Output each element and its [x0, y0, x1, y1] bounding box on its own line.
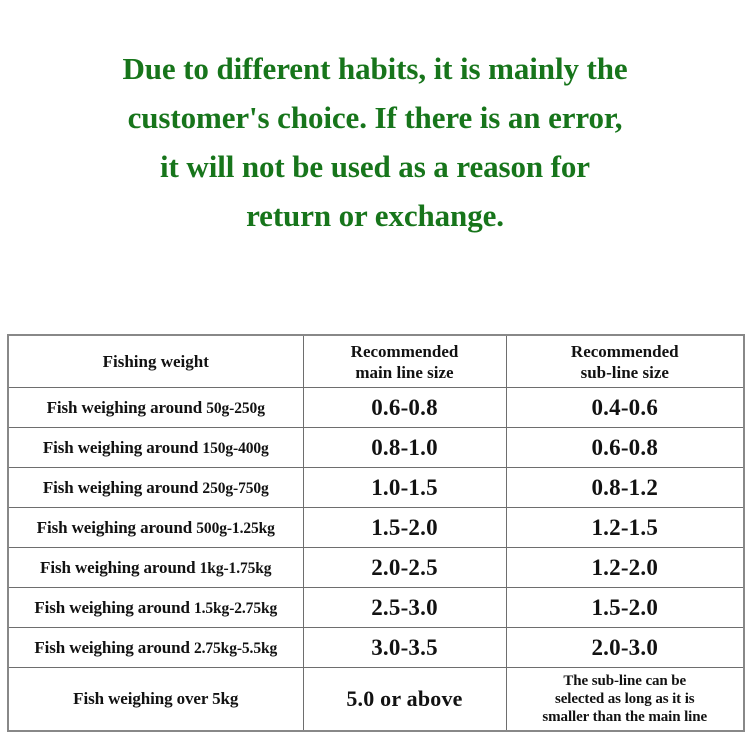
weight-prefix: Fish weighing around: [43, 478, 203, 497]
notice-line-2: customer's choice. If there is an error,: [28, 93, 722, 142]
cell-sub-line-size: 1.5-2.0: [506, 588, 744, 628]
table-row: Fish weighing around 2.75kg-5.5kg 3.0-3.…: [8, 628, 744, 668]
cell-fishing-weight: Fish weighing around 2.75kg-5.5kg: [8, 628, 303, 668]
cell-main-line-size: 0.6-0.8: [303, 388, 506, 428]
weight-qty: 50g-250g: [206, 400, 265, 417]
weight-prefix: Fish weighing around: [47, 398, 207, 417]
weight-qty: 150g-400g: [202, 440, 268, 457]
cell-fishing-weight: Fish weighing around 150g-400g: [8, 428, 303, 468]
weight-qty: 1.5kg-2.75kg: [194, 600, 277, 617]
cell-sub-line-size: 0.8-1.2: [506, 468, 744, 508]
weight-prefix: Fish weighing around: [40, 558, 200, 577]
cell-main-line-size: 1.0-1.5: [303, 468, 506, 508]
table-row: Fish weighing around 50g-250g 0.6-0.8 0.…: [8, 388, 744, 428]
cell-fishing-weight: Fish weighing around 1kg-1.75kg: [8, 548, 303, 588]
cell-fishing-weight: Fish weighing around 50g-250g: [8, 388, 303, 428]
header-main-line-size: Recommended main line size: [303, 335, 506, 388]
weight-qty: 250g-750g: [202, 480, 268, 497]
page-root: Due to different habits, it is mainly th…: [0, 0, 750, 750]
weight-prefix: Fish weighing around: [37, 518, 197, 537]
table-header-row: Fishing weight Recommended main line siz…: [8, 335, 744, 388]
cell-fishing-weight: Fish weighing around 1.5kg-2.75kg: [8, 588, 303, 628]
weight-prefix: Fish weighing around: [43, 438, 203, 457]
cell-main-line-size: 0.8-1.0: [303, 428, 506, 468]
sub-note-line-3: smaller than the main line: [511, 708, 740, 726]
cell-main-line-size: 2.0-2.5: [303, 548, 506, 588]
weight-prefix: Fish weighing around: [34, 598, 194, 617]
header-sub-line-2: sub-line size: [511, 362, 740, 383]
size-table-container: Fishing weight Recommended main line siz…: [7, 334, 743, 732]
line-size-table: Fishing weight Recommended main line siz…: [7, 334, 745, 732]
cell-sub-line-note: The sub-line can be selected as long as …: [506, 668, 744, 732]
table-row: Fish weighing around 500g-1.25kg 1.5-2.0…: [8, 508, 744, 548]
header-sub-line-size: Recommended sub-line size: [506, 335, 744, 388]
table-row: Fish weighing around 250g-750g 1.0-1.5 0…: [8, 468, 744, 508]
cell-fishing-weight: Fish weighing around 250g-750g: [8, 468, 303, 508]
table-row: Fish weighing around 1.5kg-2.75kg 2.5-3.…: [8, 588, 744, 628]
cell-main-line-size: 2.5-3.0: [303, 588, 506, 628]
weight-qty: 1kg-1.75kg: [200, 560, 272, 577]
header-main-line-1: Recommended: [308, 341, 502, 362]
weight-prefix: Fish weighing around: [34, 638, 194, 657]
notice-line-3: it will not be used as a reason for: [28, 142, 722, 191]
cell-main-line-size: 1.5-2.0: [303, 508, 506, 548]
cell-fishing-weight: Fish weighing around 500g-1.25kg: [8, 508, 303, 548]
weight-qty: 2.75kg-5.5kg: [194, 640, 277, 657]
cell-sub-line-size: 1.2-1.5: [506, 508, 744, 548]
cell-main-line-size: 3.0-3.5: [303, 628, 506, 668]
weight-qty: 500g-1.25kg: [196, 520, 275, 537]
cell-sub-line-size: 0.6-0.8: [506, 428, 744, 468]
cell-sub-line-size: 1.2-2.0: [506, 548, 744, 588]
table-row: Fish weighing around 150g-400g 0.8-1.0 0…: [8, 428, 744, 468]
cell-sub-line-size: 2.0-3.0: [506, 628, 744, 668]
header-fishing-weight: Fishing weight: [8, 335, 303, 388]
sub-note-line-2: selected as long as it is: [511, 690, 740, 708]
cell-fishing-weight: Fish weighing over 5kg: [8, 668, 303, 732]
notice-line-1: Due to different habits, it is mainly th…: [28, 44, 722, 93]
table-row: Fish weighing around 1kg-1.75kg 2.0-2.5 …: [8, 548, 744, 588]
notice-heading: Due to different habits, it is mainly th…: [0, 44, 750, 240]
header-sub-line-1: Recommended: [511, 341, 740, 362]
notice-line-4: return or exchange.: [28, 191, 722, 240]
table-row: Fish weighing over 5kg 5.0 or above The …: [8, 668, 744, 732]
sub-note-line-1: The sub-line can be: [511, 672, 740, 690]
header-main-line-2: main line size: [308, 362, 502, 383]
cell-main-line-size: 5.0 or above: [303, 668, 506, 732]
cell-sub-line-size: 0.4-0.6: [506, 388, 744, 428]
